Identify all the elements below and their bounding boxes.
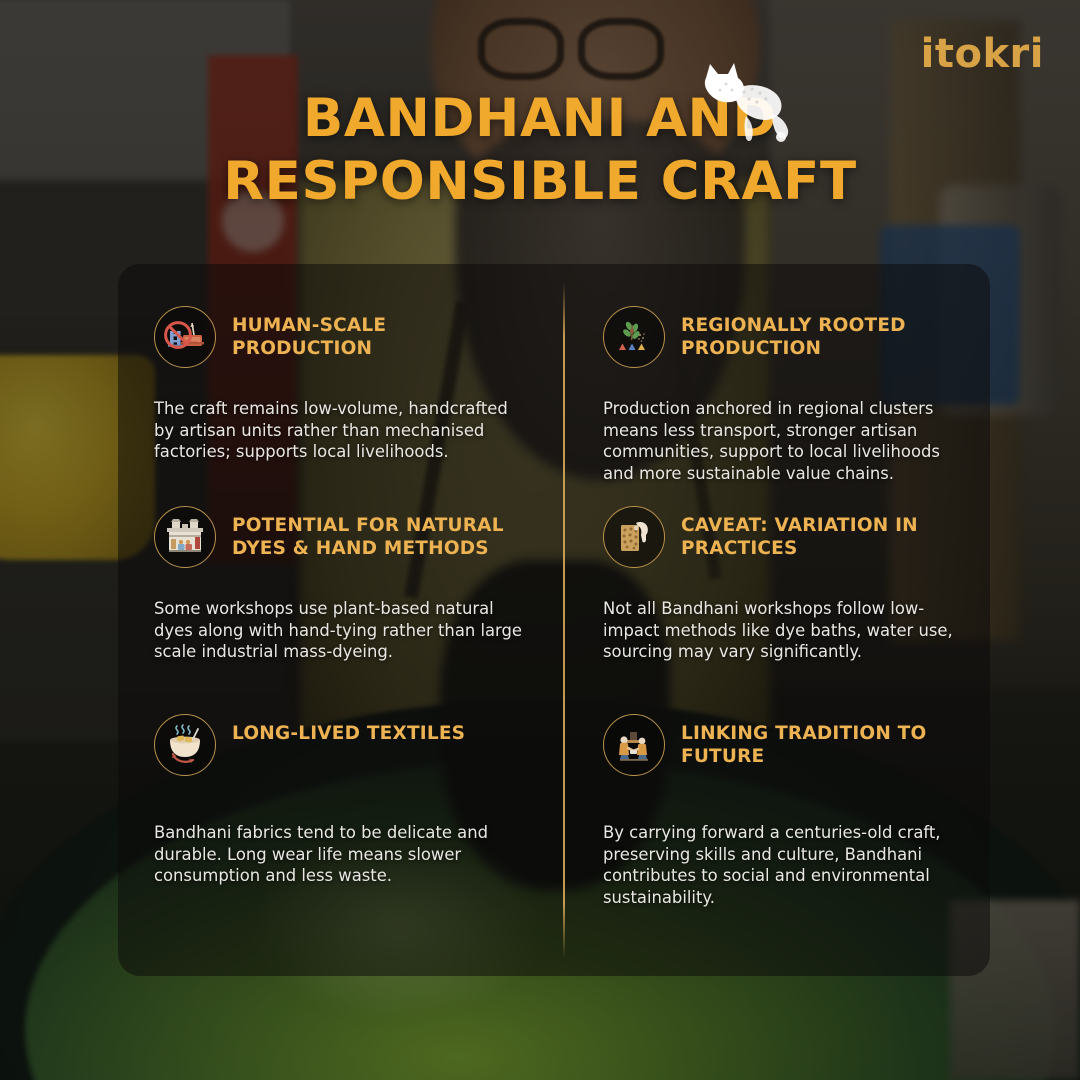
- infographic-poster: itokri BANDHANI AND RESPONSIBLE CRAFT: [0, 0, 1080, 1080]
- block-header: LONG-LIVED TEXTILES: [154, 714, 529, 776]
- block-header: LINKING TRADITION TO FUTURE: [603, 714, 966, 776]
- block-title: LINKING TRADITION TO FUTURE: [681, 714, 966, 768]
- block-linking-tradition-to-future: LINKING TRADITION TO FUTURE By carrying …: [563, 672, 990, 976]
- leaves-and-dye-powders-icon: [603, 306, 665, 368]
- block-header: CAVEAT: VARIATION IN PRACTICES: [603, 506, 966, 568]
- content-panel: HUMAN-SCALE PRODUCTION The craft remains…: [118, 264, 990, 976]
- two-seated-artisans-icon: [603, 714, 665, 776]
- block-title: POTENTIAL FOR NATURAL DYES & HAND METHOD…: [232, 506, 529, 560]
- block-body: By carrying forward a centuries-old craf…: [603, 822, 966, 909]
- block-header: REGIONALLY ROOTED PRODUCTION: [603, 306, 966, 368]
- no-factory-machine-icon: [154, 306, 216, 368]
- block-regionally-rooted-production: REGIONALLY ROOTED PRODUCTION Production …: [563, 264, 990, 464]
- block-title: REGIONALLY ROOTED PRODUCTION: [681, 306, 966, 360]
- block-body: Some workshops use plant-based natural d…: [154, 598, 529, 663]
- brand-logo[interactable]: itokri: [921, 34, 1044, 74]
- block-human-scale-production: HUMAN-SCALE PRODUCTION The craft remains…: [118, 264, 563, 464]
- block-body: Bandhani fabrics tend to be delicate and…: [154, 822, 529, 887]
- craft-workshop-building-icon: [154, 506, 216, 568]
- block-body: Not all Bandhani workshops follow low-im…: [603, 598, 966, 663]
- block-caveat-variation-in-practices: CAVEAT: VARIATION IN PRACTICES Not all B…: [563, 464, 990, 672]
- title-line-2: RESPONSIBLE CRAFT: [0, 151, 1080, 214]
- block-header: POTENTIAL FOR NATURAL DYES & HAND METHOD…: [154, 506, 529, 568]
- content-grid: HUMAN-SCALE PRODUCTION The craft remains…: [118, 264, 990, 976]
- block-title: LONG-LIVED TEXTILES: [232, 714, 465, 746]
- steaming-dye-pot-icon: [154, 714, 216, 776]
- block-body: The craft remains low-volume, handcrafte…: [154, 398, 529, 463]
- brand-logo-text: itokri: [921, 31, 1044, 77]
- block-header: HUMAN-SCALE PRODUCTION: [154, 306, 529, 368]
- block-long-lived-textiles: LONG-LIVED TEXTILES Bandhani fabrics ten…: [118, 672, 563, 976]
- hand-holding-patterned-fabric-icon: [603, 506, 665, 568]
- title-line-1: BANDHANI AND: [0, 88, 1080, 151]
- block-title: HUMAN-SCALE PRODUCTION: [232, 306, 529, 360]
- block-natural-dyes-hand-methods: POTENTIAL FOR NATURAL DYES & HAND METHOD…: [118, 464, 563, 672]
- block-title: CAVEAT: VARIATION IN PRACTICES: [681, 506, 966, 560]
- poster-title: BANDHANI AND RESPONSIBLE CRAFT: [0, 88, 1080, 213]
